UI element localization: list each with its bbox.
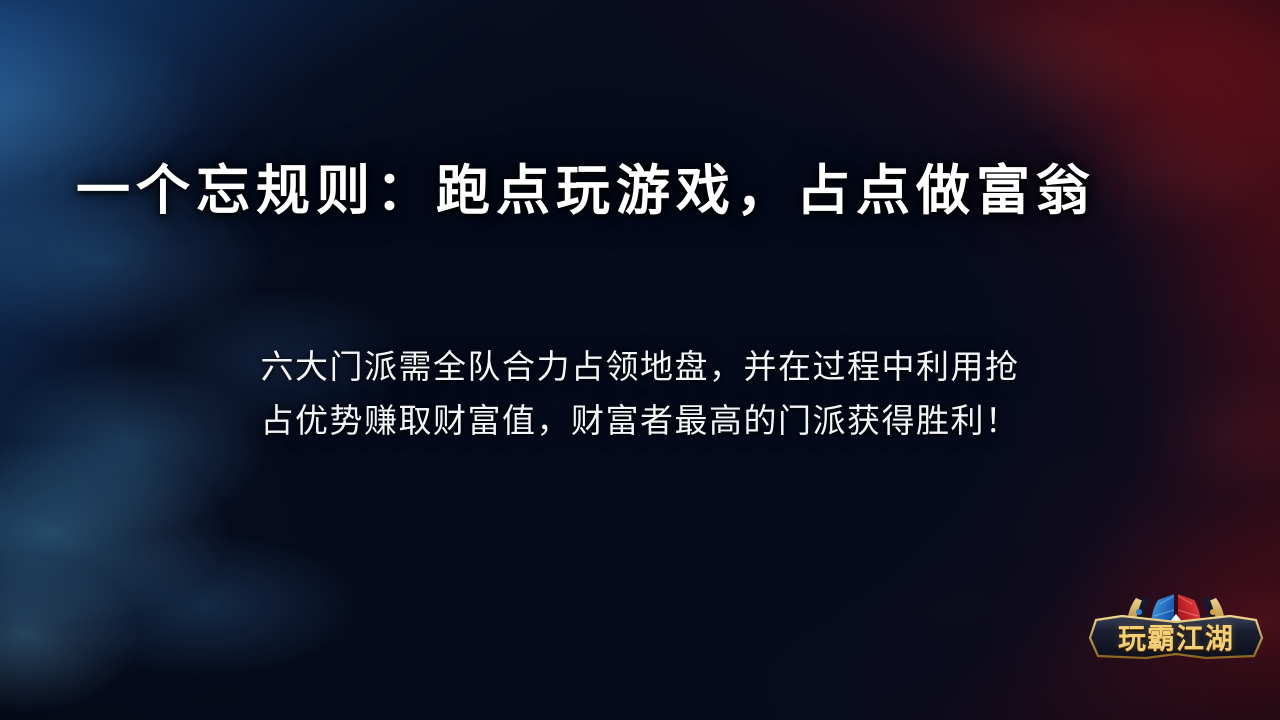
slide-canvas: 一个忘规则：跑点玩游戏，占点做富翁 六大门派需全队合力占领地盘，并在过程中利用抢… — [0, 0, 1280, 720]
logo-wordmark: 玩霸江湖 — [1086, 614, 1266, 660]
slide-body: 六大门派需全队合力占领地盘，并在过程中利用抢 占优势赚取财富值，财富者最高的门派… — [0, 340, 1280, 448]
body-line-2: 占优势赚取财富值，财富者最高的门派获得胜利！ — [0, 394, 1280, 448]
game-logo: 玩霸江湖 — [1086, 582, 1266, 674]
body-line-1: 六大门派需全队合力占领地盘，并在过程中利用抢 — [0, 340, 1280, 394]
slide-title: 一个忘规则：跑点玩游戏，占点做富翁 — [0, 146, 1172, 225]
